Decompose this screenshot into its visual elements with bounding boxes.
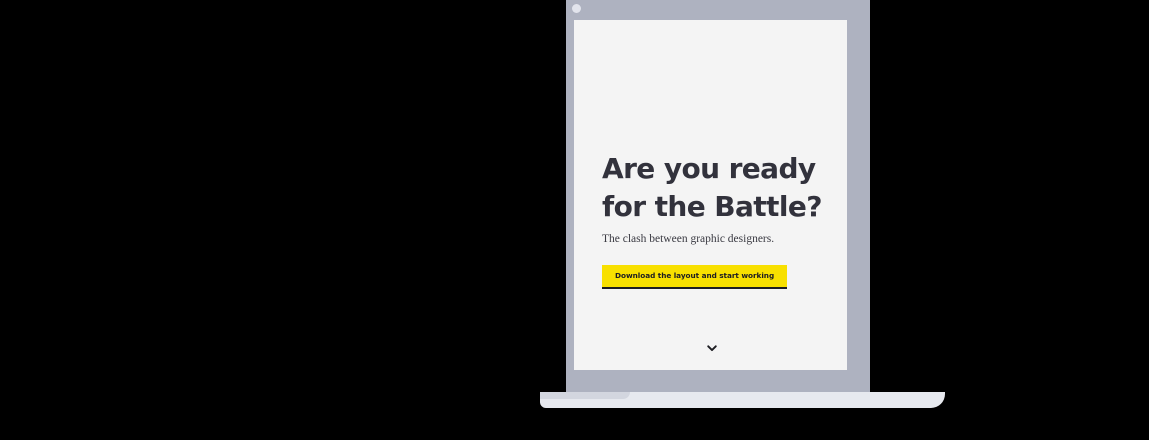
website-page: Are you ready for the Battle? The clash … (574, 20, 847, 370)
scroll-down-button[interactable] (705, 341, 719, 355)
cta-underline (602, 287, 787, 289)
chevron-down-icon (705, 341, 719, 355)
laptop-mockup: Are you ready for the Battle? The clash … (0, 0, 1149, 440)
cta-wrapper: Download the layout and start working (602, 265, 787, 287)
hero-subtitle: The clash between graphic designers. (602, 232, 847, 247)
laptop-base-notch (540, 392, 630, 399)
laptop-screen: Are you ready for the Battle? The clash … (574, 20, 847, 370)
hero-headline: Are you ready for the Battle? (602, 150, 847, 226)
laptop-lid-bottom-bezel (566, 370, 870, 392)
webcam-icon (572, 4, 581, 13)
screenshot-stage: Are you ready for the Battle? The clash … (0, 0, 1149, 440)
download-layout-button[interactable]: Download the layout and start working (602, 265, 787, 287)
hero-content: Are you ready for the Battle? The clash … (602, 150, 847, 287)
